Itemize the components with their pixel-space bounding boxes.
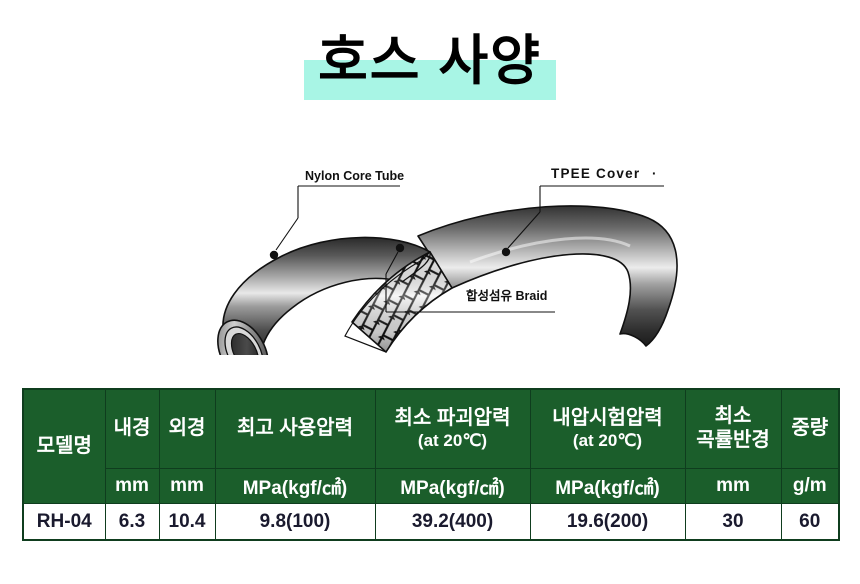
col-header-min-bend-radius: 최소 곡률반경 <box>685 389 781 469</box>
col-header-proof-test-pressure-note: (at 20℃) <box>531 431 685 451</box>
col-unit-min-bend-radius: mm <box>685 469 781 504</box>
col-header-model: 모델명 <box>23 389 105 504</box>
col-header-min-bend-radius-line1: 최소 <box>715 405 752 427</box>
col-header-max-working-pressure: 최고 사용압력 <box>215 389 375 469</box>
col-header-inner-diameter: 내경 <box>105 389 159 469</box>
cell-model: RH-04 <box>23 504 105 541</box>
cell-weight: 60 <box>781 504 839 541</box>
hose-outer-cover-right <box>418 206 677 346</box>
col-unit-outer-diameter: mm <box>159 469 215 504</box>
cell-proof-test-pressure: 19.6(200) <box>530 504 685 541</box>
col-header-weight: 중량 <box>781 389 839 469</box>
col-unit-max-working-pressure: MPa(kgf/㎠) <box>215 469 375 504</box>
cell-min-bend-radius: 30 <box>685 504 781 541</box>
callout-label-tpee-cover: TPEE Cover <box>551 166 640 181</box>
cell-inner-diameter: 6.3 <box>105 504 159 541</box>
page-title-label: 호스 사양 <box>318 31 542 91</box>
col-header-proof-test-pressure: 내압시험압력 (at 20℃) <box>530 389 685 469</box>
col-header-proof-test-pressure-line1: 내압시험압력 <box>552 407 662 429</box>
col-header-min-burst-pressure: 최소 파괴압력 (at 20℃) <box>375 389 530 469</box>
col-header-min-burst-pressure-note: (at 20℃) <box>376 431 530 451</box>
cell-max-working-pressure: 9.8(100) <box>215 504 375 541</box>
callout-label-nylon-core-tube: Nylon Core Tube <box>305 169 404 183</box>
col-header-min-bend-radius-line2: 곡률반경 <box>686 429 781 453</box>
col-unit-inner-diameter: mm <box>105 469 159 504</box>
hose-cutaway-illustration: Nylon Core Tube TPEE Cover · 합성섬유 Braid <box>0 140 860 355</box>
col-header-min-burst-pressure-line1: 최소 파괴압력 <box>395 407 511 429</box>
table-header-row-units: mm mm MPa(kgf/㎠) MPa(kgf/㎠) MPa(kgf/㎠) m… <box>23 469 839 504</box>
cell-min-burst-pressure: 39.2(400) <box>375 504 530 541</box>
col-unit-min-burst-pressure: MPa(kgf/㎠) <box>375 469 530 504</box>
table-header-row-main: 모델명 내경 외경 최고 사용압력 최소 파괴압력 (at 20℃) 내압시험압… <box>23 389 839 469</box>
col-header-outer-diameter: 외경 <box>159 389 215 469</box>
hose-spec-table: 모델명 내경 외경 최고 사용압력 최소 파괴압력 (at 20℃) 내압시험압… <box>22 388 840 541</box>
page-title: 호스 사양 <box>304 28 556 98</box>
page-title-block: 호스 사양 <box>0 28 860 98</box>
cell-outer-diameter: 10.4 <box>159 504 215 541</box>
callout-label-braid: 합성섬유 Braid <box>466 288 547 303</box>
table-row: RH-04 6.3 10.4 9.8(100) 39.2(400) 19.6(2… <box>23 504 839 541</box>
callout-label-tpee-cover-dash: · <box>652 166 658 181</box>
col-unit-weight: g/m <box>781 469 839 504</box>
hose-spec-table-container: 모델명 내경 외경 최고 사용압력 최소 파괴압력 (at 20℃) 내압시험압… <box>22 388 838 541</box>
col-unit-proof-test-pressure: MPa(kgf/㎠) <box>530 469 685 504</box>
